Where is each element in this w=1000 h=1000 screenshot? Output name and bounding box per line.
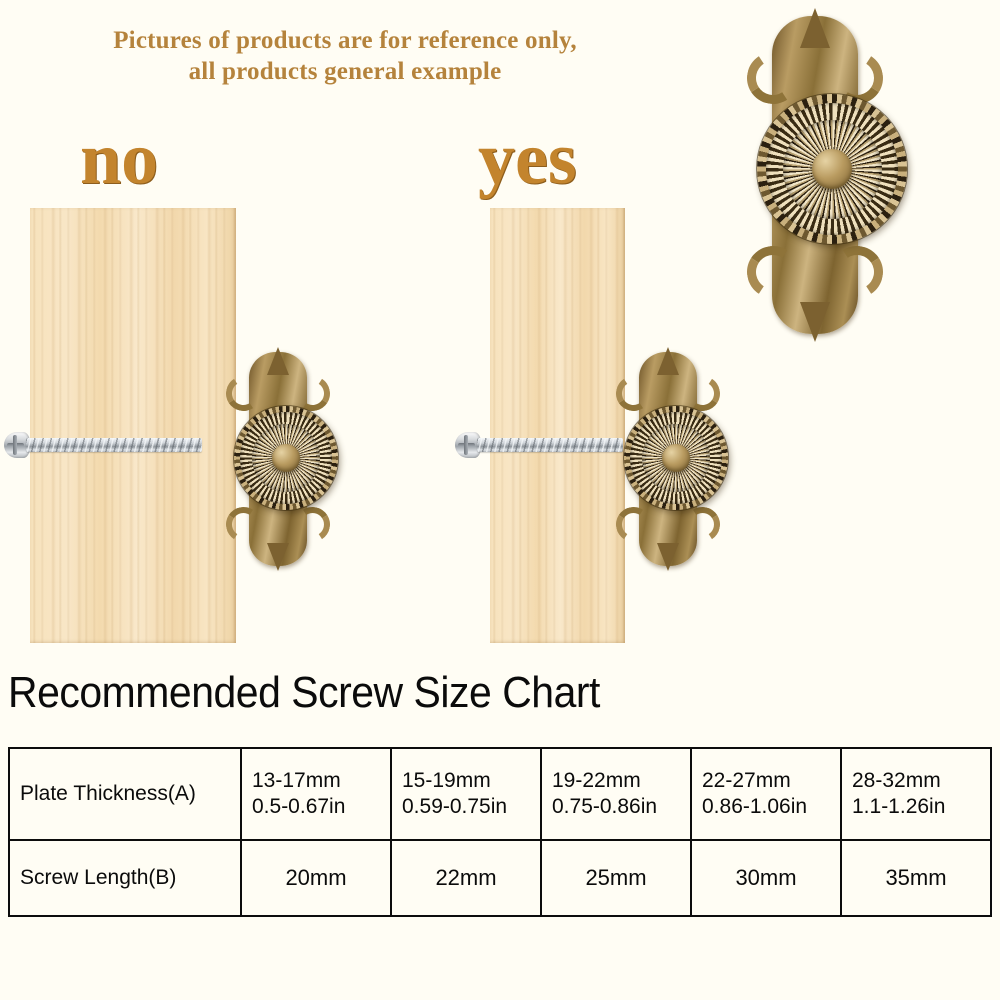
backplate-spire-bottom (800, 302, 830, 342)
row-label-screw-length: Screw Length(B) (9, 840, 241, 916)
notice-line-2: all products general example (0, 57, 690, 88)
cell-in: 1.1-1.26in (852, 794, 980, 820)
label-no: no (80, 122, 158, 196)
wood-panel-no (30, 208, 236, 643)
screw-shaft (477, 438, 623, 452)
table-cell: 35mm (841, 840, 991, 916)
label-yes: yes (478, 122, 577, 196)
infographic-stage: Pictures of products are for reference o… (0, 0, 1000, 1000)
rosette-knob (757, 94, 907, 244)
cell-mm: 28-32mm (852, 768, 980, 794)
table-row: Screw Length(B) 20mm 22mm 25mm 30mm 35mm (9, 840, 991, 916)
cell-in: 0.59-0.75in (402, 794, 530, 820)
knob-hub (812, 149, 852, 189)
backplate-spire-bottom (657, 543, 679, 571)
cell-in: 0.86-1.06in (702, 794, 830, 820)
cell-mm: 13-17mm (252, 768, 380, 794)
backplate-spire-top (800, 8, 830, 48)
table-cell: 15-19mm 0.59-0.75in (391, 748, 541, 840)
table-cell: 28-32mm 1.1-1.26in (841, 748, 991, 840)
reference-notice: Pictures of products are for reference o… (0, 26, 690, 87)
chart-title: Recommended Screw Size Chart (8, 668, 600, 718)
table-cell: 25mm (541, 840, 691, 916)
cell-in: 0.75-0.86in (552, 794, 680, 820)
rosette-knob (624, 406, 728, 510)
table-cell: 22mm (391, 840, 541, 916)
screw-yes (455, 432, 623, 458)
cell-mm: 19-22mm (552, 768, 680, 794)
cabinet-knob-yes (608, 348, 728, 570)
table-cell: 30mm (691, 840, 841, 916)
backplate-spire-top (657, 347, 679, 375)
screw-no (4, 432, 204, 458)
table-cell: 20mm (241, 840, 391, 916)
cell-mm: 15-19mm (402, 768, 530, 794)
knob-hub (662, 444, 690, 472)
table-cell: 22-27mm 0.86-1.06in (691, 748, 841, 840)
table-cell: 13-17mm 0.5-0.67in (241, 748, 391, 840)
table-row: Plate Thickness(A) 13-17mm 0.5-0.67in 15… (9, 748, 991, 840)
cell-in: 0.5-0.67in (252, 794, 380, 820)
notice-line-1: Pictures of products are for reference o… (0, 26, 690, 57)
table-cell: 19-22mm 0.75-0.86in (541, 748, 691, 840)
cabinet-knob-no (218, 348, 338, 570)
rosette-knob (234, 406, 338, 510)
wood-panel-yes (490, 208, 625, 643)
screw-shaft (26, 438, 202, 452)
cell-mm: 22-27mm (702, 768, 830, 794)
product-hero-knob (735, 10, 895, 340)
backplate-spire-bottom (267, 543, 289, 571)
backplate-spire-top (267, 347, 289, 375)
screw-size-table: Plate Thickness(A) 13-17mm 0.5-0.67in 15… (8, 747, 992, 917)
row-label-plate-thickness: Plate Thickness(A) (9, 748, 241, 840)
knob-hub (272, 444, 300, 472)
